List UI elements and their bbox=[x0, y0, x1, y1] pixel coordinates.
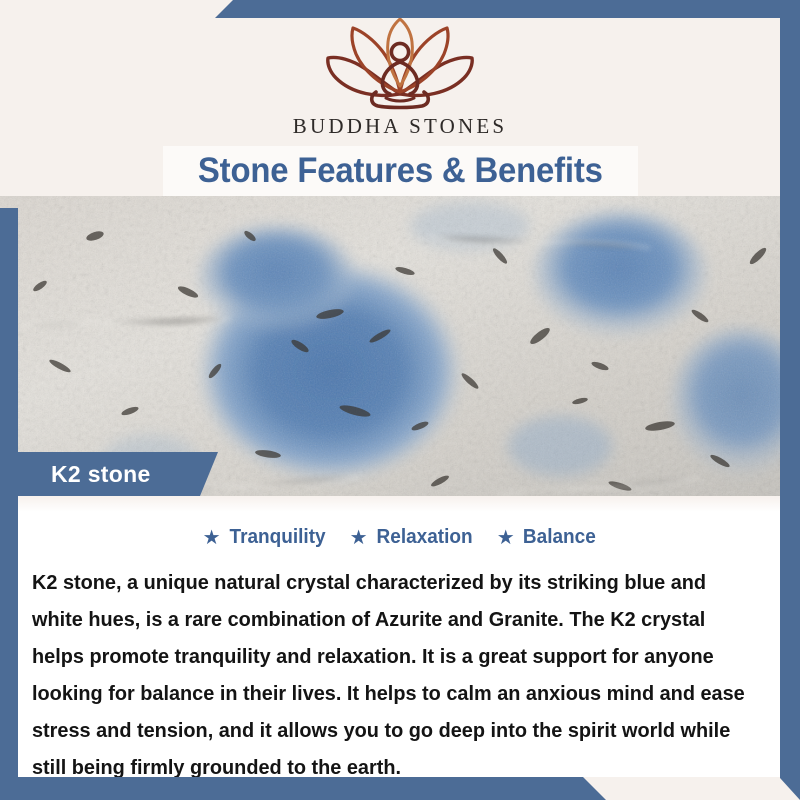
star-icon: ★ bbox=[203, 528, 221, 548]
benefit-item: ★ Balance bbox=[497, 526, 598, 549]
stone-name-label: K2 stone bbox=[51, 461, 151, 488]
infographic-page: BUDDHA STONES bbox=[0, 0, 800, 800]
frame-left-bar bbox=[0, 208, 18, 800]
star-icon: ★ bbox=[497, 528, 515, 548]
page-title: Stone Features & Benefits bbox=[198, 151, 603, 191]
benefit-item: ★ Tranquility bbox=[203, 526, 328, 549]
benefit-label: Tranquility bbox=[229, 526, 325, 549]
benefits-row: ★ Tranquility ★ Relaxation ★ Balance bbox=[18, 526, 782, 549]
k2-stone-photo bbox=[0, 196, 800, 496]
content-panel: ★ Tranquility ★ Relaxation ★ Balance K2 … bbox=[18, 496, 782, 777]
benefit-label: Relaxation bbox=[376, 526, 472, 549]
brand-logo: BUDDHA STONES bbox=[0, 16, 800, 139]
brand-name: BUDDHA STONES bbox=[293, 114, 508, 139]
lotus-meditation-icon bbox=[316, 16, 484, 112]
panel-top-fade bbox=[18, 496, 782, 512]
frame-right-bar bbox=[780, 0, 800, 800]
benefit-label: Balance bbox=[523, 526, 596, 549]
stone-description: K2 stone, a unique natural crystal chara… bbox=[32, 564, 750, 786]
stone-name-badge: K2 stone bbox=[18, 452, 218, 496]
star-icon: ★ bbox=[350, 528, 368, 548]
title-banner: Stone Features & Benefits bbox=[163, 146, 638, 196]
benefit-item: ★ Relaxation bbox=[350, 526, 475, 549]
